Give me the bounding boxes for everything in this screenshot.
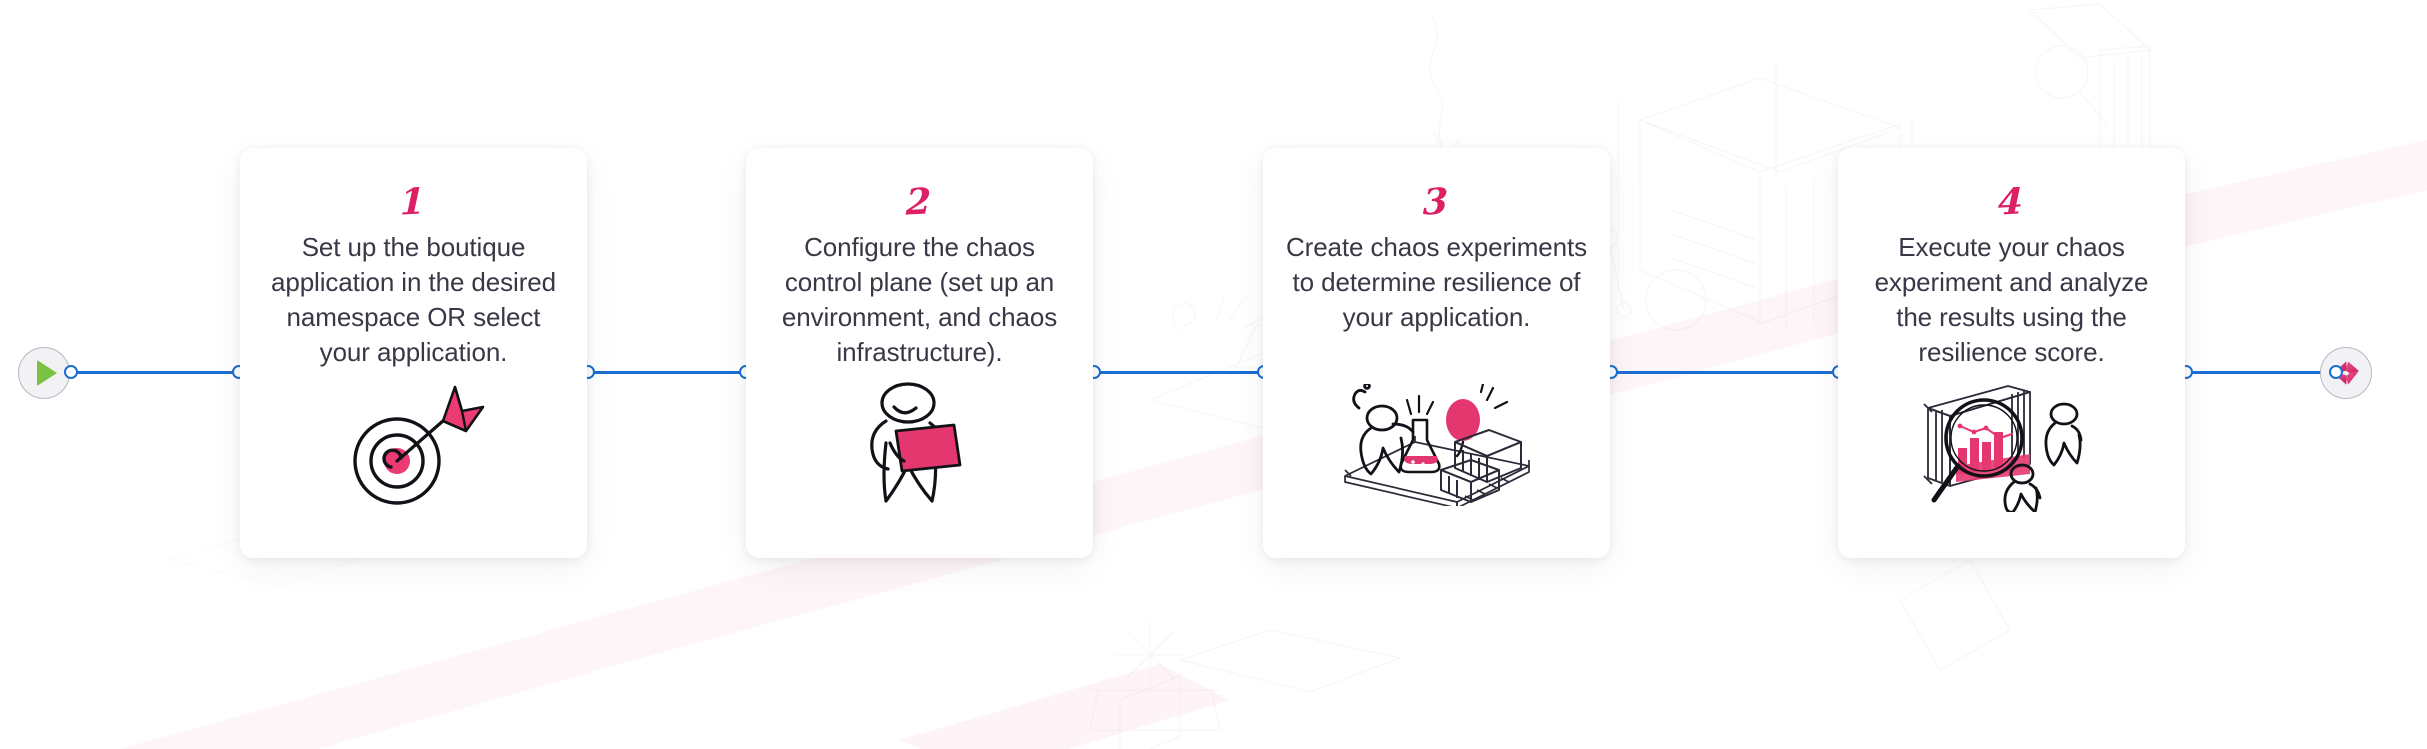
person-carrying-box-icon <box>805 380 1035 510</box>
step-number-3: 3 <box>1423 183 1450 220</box>
step-card-3[interactable]: 3 Create chaos experiments to determine … <box>1263 148 1610 558</box>
connector-segment-2-to-3 <box>1093 371 1263 374</box>
connector-segment-1-to-2 <box>587 371 745 374</box>
dartboard-with-arrow-icon <box>299 380 529 510</box>
connector-segment-start-to-1 <box>70 371 238 374</box>
step-text-3: Create chaos experiments to determine re… <box>1285 230 1588 335</box>
step-card-2[interactable]: 2 Configure the chaos control plane (set… <box>746 148 1093 558</box>
step-card-4[interactable]: 4 Execute your chaos experiment and anal… <box>1838 148 2185 558</box>
step-text-1: Set up the boutique application in the d… <box>262 230 565 370</box>
step-number-4: 4 <box>1998 183 2025 220</box>
step-text-2: Configure the chaos control plane (set u… <box>768 230 1071 370</box>
connector-node-start <box>64 365 78 379</box>
play-icon <box>37 360 57 386</box>
step-card-1[interactable]: 1 Set up the boutique application in the… <box>240 148 587 558</box>
flow-start-marker[interactable] <box>18 347 70 399</box>
scientist-flask-experiment-icon <box>1322 380 1552 510</box>
step-number-2: 2 <box>906 183 933 220</box>
flow-end-marker[interactable] <box>2320 347 2372 399</box>
magnifier-chart-analysis-icon <box>1897 380 2127 510</box>
connector-segment-4-to-end <box>2185 371 2335 374</box>
connector-node-end <box>2329 365 2343 379</box>
step-text-4: Execute your chaos experiment and analyz… <box>1860 230 2163 370</box>
step-number-1: 1 <box>400 183 427 220</box>
connector-segment-3-to-4 <box>1610 371 1838 374</box>
